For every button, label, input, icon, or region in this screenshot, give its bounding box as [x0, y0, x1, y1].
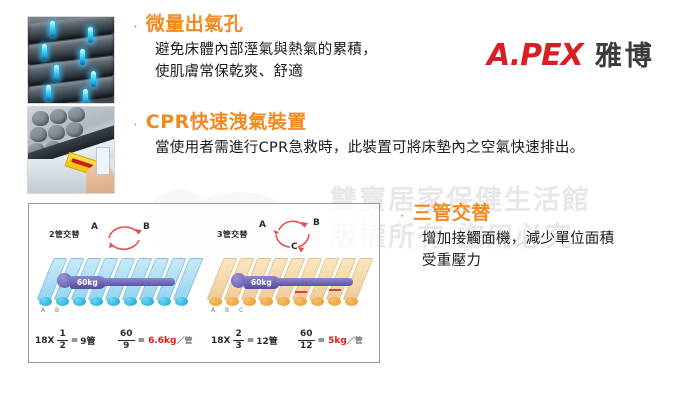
slide-canvas: 雙寶居家保健生活館 版權所有 盜用必究	[0, 0, 700, 400]
feature-title: 微量出氣孔	[146, 14, 244, 36]
formula-numerator: 60	[298, 330, 315, 341]
formula-result: 5kg	[328, 336, 347, 346]
cycle-letter-b: B	[313, 218, 320, 228]
diagram-two-tube: 2管交替 A B	[29, 204, 205, 364]
cycle-letter-b: B	[143, 222, 150, 232]
formula-equals: =	[318, 336, 326, 346]
two-tube-letters: A B	[41, 307, 63, 314]
logo-wordmark: A.PEX	[487, 38, 583, 73]
three-tube-formula-1: 18X 2 3 = 12管	[211, 330, 278, 351]
pressure-comparison-diagram: 2管交替 A B	[28, 203, 380, 363]
formula-unit: ／管	[347, 335, 363, 346]
feature-body-line: 使肌膚常保乾爽、舒適	[155, 61, 377, 83]
cycle-letter-a: A	[259, 220, 266, 230]
two-tube-formula-2: 60 9 = 6.6kg ／管	[115, 330, 192, 351]
diagram-three-tube: 3管交替 A B C	[205, 204, 381, 364]
two-tube-body-figure: 60kg	[57, 270, 187, 300]
formula-numerator: 60	[118, 330, 135, 341]
feature-body: 當使用者需進行CPR急救時，此裝置可將床墊內之空氣快速排出。	[155, 137, 584, 159]
feature-body: 避免床體內部溼氣與熱氣的累積， 使肌膚常保乾爽、舒適	[155, 39, 377, 83]
formula-prefix: 18X	[211, 336, 230, 346]
feature-title: 三管交替	[413, 203, 491, 225]
feature-body-line: 受重壓力	[422, 250, 614, 272]
feature-body-line: 避免床體內部溼氣與熱氣的累積，	[155, 39, 377, 61]
three-tube-mode-label: 3管交替	[217, 229, 248, 240]
formula-numerator: 2	[233, 330, 243, 341]
three-tube-letters: A B C	[211, 307, 247, 314]
formula-unit: ／管	[176, 335, 192, 346]
feature-air-holes: · 微量出氣孔 避免床體內部溼氣與熱氣的累積， 使肌膚常保乾爽、舒適	[133, 14, 377, 83]
feature-cpr: · CPR快速洩氣裝置 當使用者需進行CPR急救時，此裝置可將床墊內之空氣快速排…	[133, 112, 584, 159]
formula-result: 9管	[80, 334, 95, 347]
formula-equals: =	[71, 336, 79, 346]
formula-denominator: 2	[57, 341, 67, 351]
formula-denominator: 12	[298, 341, 315, 351]
cycle-letter-c: C	[291, 242, 298, 252]
micro-air-holes-photo	[27, 16, 115, 104]
weight-label: 60kg	[251, 278, 272, 287]
formula-result: 12管	[256, 334, 278, 347]
feature-three-tube: · 三管交替 增加接觸面機，減少單位面積 受重壓力	[400, 203, 614, 272]
cpr-valve-photo	[27, 106, 115, 194]
weight-label: 60kg	[77, 278, 98, 287]
formula-numerator: 1	[57, 330, 67, 341]
formula-result: 6.6kg	[148, 336, 176, 346]
formula-denominator: 9	[121, 341, 131, 351]
logo-chinese-name: 雅博	[595, 34, 655, 73]
feature-title: CPR快速洩氣裝置	[146, 112, 307, 134]
formula-equals: =	[247, 336, 255, 346]
three-tube-formula-2: 60 12 = 5kg ／管	[295, 330, 363, 351]
bullet-icon: ·	[400, 209, 405, 224]
formula-denominator: 3	[233, 341, 243, 351]
feature-body: 增加接觸面機，減少單位面積 受重壓力	[422, 228, 614, 272]
two-tube-formula-1: 18X 1 2 = 9管	[35, 330, 96, 351]
three-tube-body-figure: 60kg	[231, 270, 367, 300]
cycle-letter-a: A	[91, 222, 98, 232]
apex-logo: A.PEX 雅博	[487, 34, 655, 73]
bullet-icon: ·	[133, 20, 138, 35]
formula-equals: =	[138, 336, 146, 346]
bullet-icon: ·	[133, 118, 138, 133]
feature-body-line: 增加接觸面機，減少單位面積	[422, 228, 614, 250]
logo-mark: A.PEX 雅博	[487, 34, 655, 73]
two-tube-mode-label: 2管交替	[49, 229, 80, 240]
formula-prefix: 18X	[35, 336, 54, 346]
feature-body-line: 當使用者需進行CPR急救時，此裝置可將床墊內之空氣快速排出。	[155, 137, 584, 159]
